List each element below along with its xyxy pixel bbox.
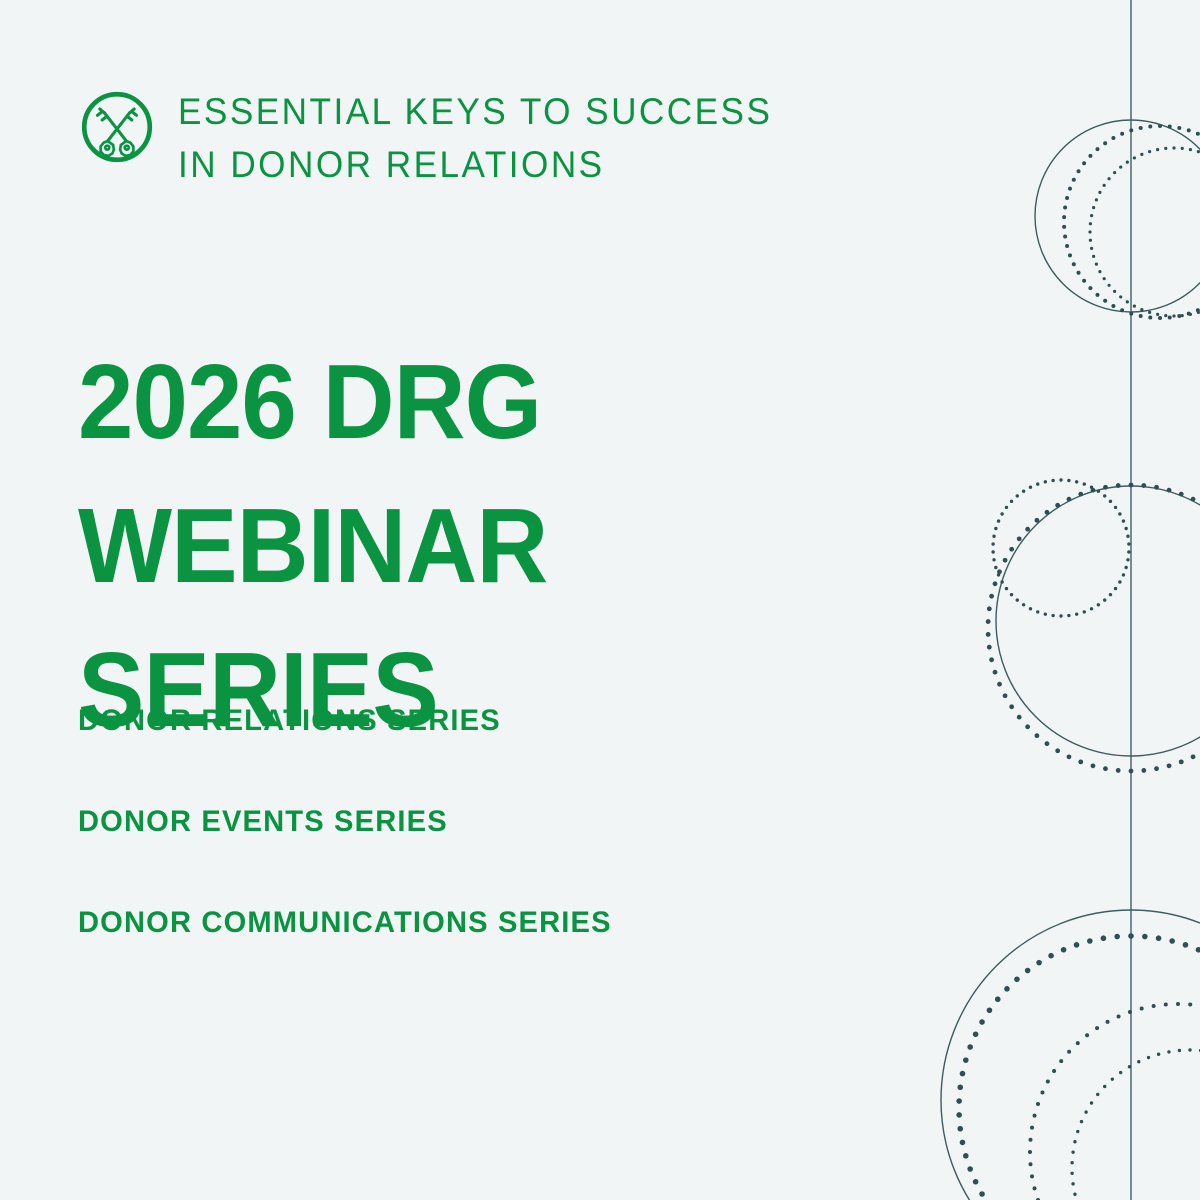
- crossed-keys-in-circle-logo: [78, 88, 156, 166]
- series-item-donor-events: DONOR EVENTS SERIES: [78, 807, 893, 908]
- dotted-circle: [986, 483, 1200, 774]
- dotted-circle: [956, 933, 1200, 1200]
- dotted-circle: [1062, 124, 1200, 320]
- middle-circle-cluster: [986, 478, 1200, 773]
- series-list: DONOR RELATIONS SERIES DONOR EVENTS SERI…: [78, 706, 918, 1009]
- dotted-circle: [1028, 1002, 1200, 1200]
- top-circle-cluster: [1035, 120, 1200, 320]
- dotted-circle: [1088, 146, 1200, 317]
- series-item-donor-communications: DONOR COMMUNICATIONS SERIES: [78, 908, 893, 1009]
- bottom-circle-cluster: [941, 910, 1200, 1200]
- dotted-circle: [1070, 1048, 1200, 1200]
- brand-lockup: ESSENTIAL KEYS TO SUCCESS IN DONOR RELAT…: [78, 86, 804, 191]
- solid-circle: [996, 486, 1200, 756]
- series-item-donor-relations: DONOR RELATIONS SERIES: [78, 706, 893, 807]
- solid-circle: [941, 910, 1200, 1200]
- solid-circle: [1035, 120, 1200, 312]
- page-title: 2026 DRG WEBINAR SERIES: [78, 330, 980, 762]
- dotted-circle: [991, 478, 1130, 617]
- brand-tagline: ESSENTIAL KEYS TO SUCCESS IN DONOR RELAT…: [178, 86, 772, 191]
